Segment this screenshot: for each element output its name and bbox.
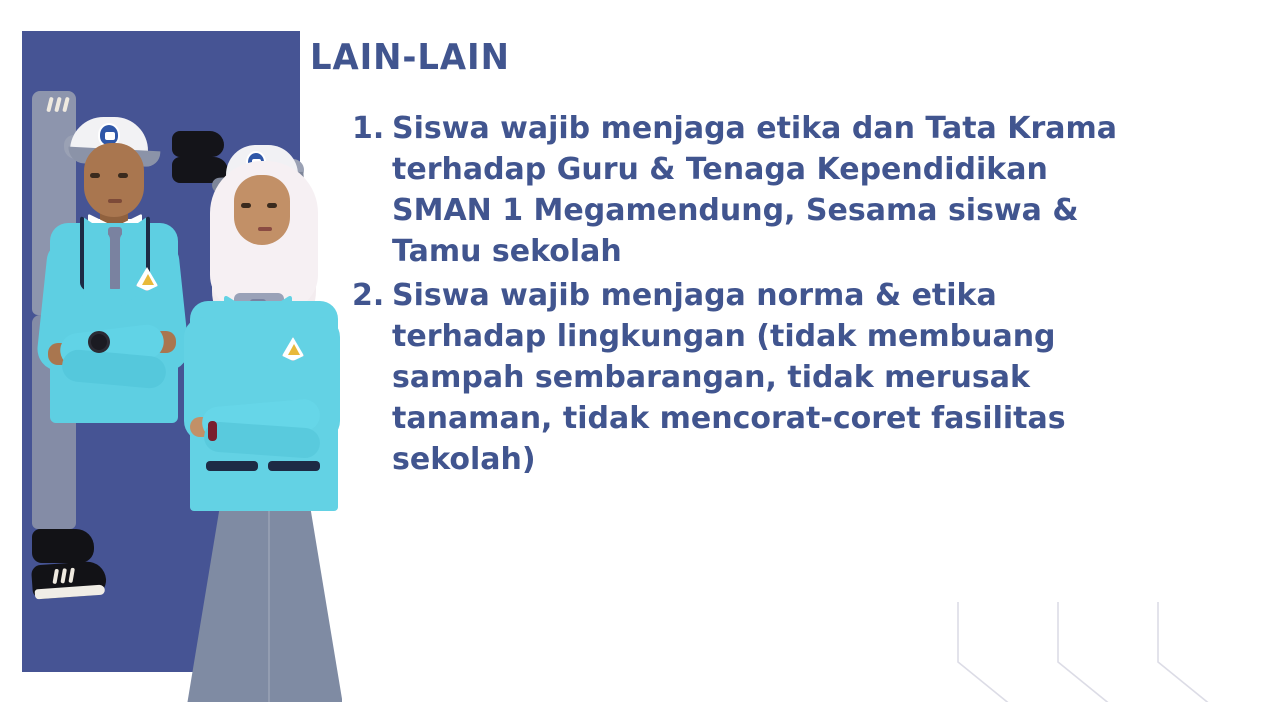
bracelet-icon xyxy=(208,421,217,441)
list-item-text: Siswa wajib menjaga norma & etika terhad… xyxy=(392,275,1157,480)
male-head xyxy=(84,143,144,217)
male-mouth xyxy=(108,199,122,203)
page-title: LAIN-LAIN xyxy=(310,40,510,76)
list-item-number: 1. xyxy=(352,108,392,149)
chevron-group xyxy=(958,602,1238,702)
list-item: 2. Siswa wajib menjaga norma & etika ter… xyxy=(352,275,1157,480)
list-item: 1. Siswa wajib menjaga etika dan Tata Kr… xyxy=(352,108,1157,272)
female-skirt xyxy=(186,501,342,702)
content-list: 1. Siswa wajib menjaga etika dan Tata Kr… xyxy=(352,108,1157,480)
male-right-shoe xyxy=(31,560,107,599)
chevron-right-icon xyxy=(1058,602,1138,702)
list-item-text: Siswa wajib menjaga etika dan Tata Krama… xyxy=(392,108,1157,272)
male-student-figure xyxy=(32,91,192,702)
list-item-number: 2. xyxy=(352,275,392,316)
female-left-shoe xyxy=(172,131,224,157)
chevron-decoration xyxy=(920,552,1270,702)
female-student-figure xyxy=(172,131,342,702)
wristwatch-icon xyxy=(88,331,110,353)
chevron-right-icon xyxy=(958,602,1038,702)
chevron-right-icon xyxy=(1158,602,1238,702)
male-left-shoe xyxy=(32,529,94,563)
female-mouth xyxy=(258,227,272,231)
female-pocket-left xyxy=(206,461,258,471)
female-pocket-right xyxy=(268,461,320,471)
slide-canvas: { "slide": { "title": "LAIN-LAIN", "back… xyxy=(0,0,1270,702)
student-photo xyxy=(22,31,342,702)
female-head xyxy=(234,175,290,245)
